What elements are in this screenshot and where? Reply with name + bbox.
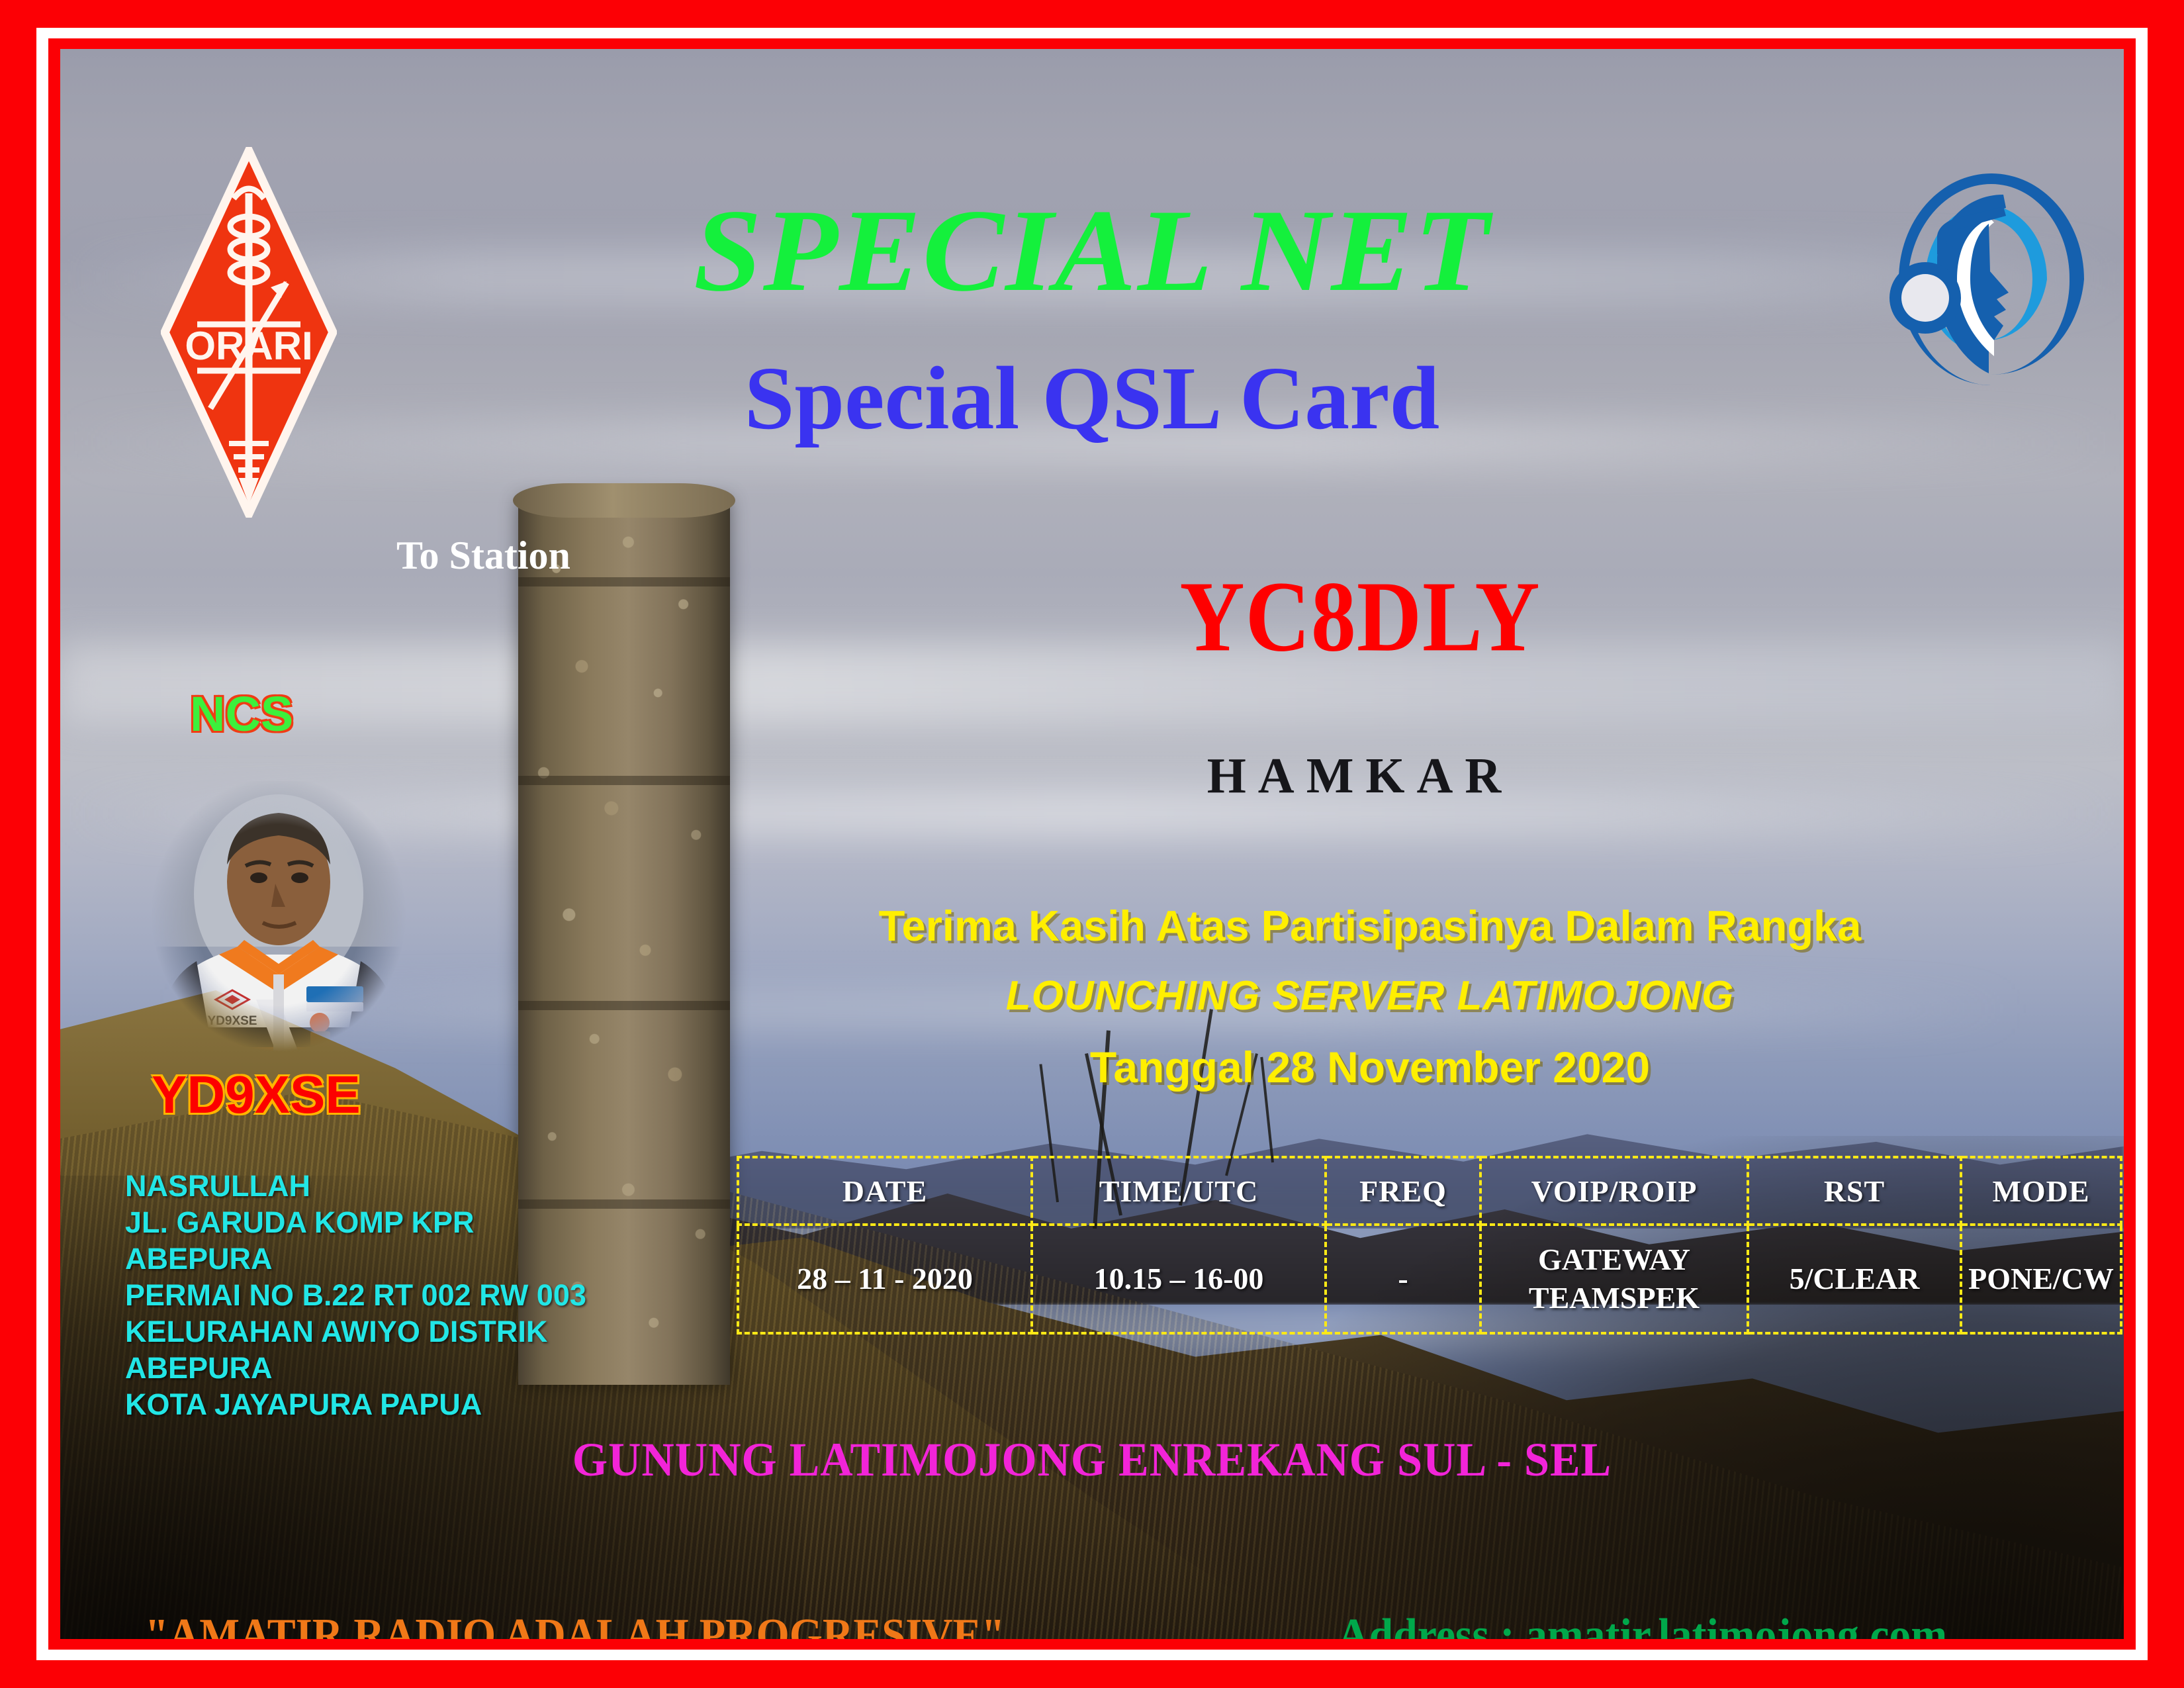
event-date-line: Tanggal 28 November 2020: [775, 1045, 1965, 1089]
thanks-line: Terima Kasih Atas Partisipasinya Dalam R…: [775, 904, 1965, 947]
to-station-label: To Station: [396, 536, 570, 575]
card-photo-background: ORARI SPECIAL NET Special QSL Card To St…: [60, 49, 2124, 1639]
column-header-date: DATE: [738, 1157, 1032, 1225]
event-subject-line: LOUNCHING SERVER LATIMOJONG: [775, 976, 1965, 1017]
cell-voip-roip: GATEWAY TEAMSPEK: [1480, 1225, 1748, 1333]
svg-text:YD9XSE: YD9XSE: [208, 1014, 257, 1028]
operator-portrait-svg: YD9XSE: [140, 781, 418, 1059]
footer-address: Address : amatir.latimojong.com: [1338, 1613, 1947, 1639]
table-row: 28 – 11 - 2020 10.15 – 16-00 - GATEWAY T…: [738, 1225, 2121, 1333]
address-line: ABEPURA: [125, 1350, 586, 1386]
column-header-time: TIME/UTC: [1032, 1157, 1326, 1225]
cell-rst: 5/CLEAR: [1748, 1225, 1961, 1333]
qso-log-table: DATE TIME/UTC FREQ VOIP/ROIP RST MODE 28…: [737, 1156, 2122, 1335]
station-callsign: YC8DLY: [815, 567, 1905, 667]
column-header-freq: FREQ: [1326, 1157, 1480, 1225]
pillar-band: [518, 577, 730, 586]
cell-time: 10.15 – 16-00: [1032, 1225, 1326, 1333]
cell-freq: -: [1326, 1225, 1480, 1333]
address-line: PERMAI NO B.22 RT 002 RW 003: [125, 1277, 586, 1313]
operator-portrait: YD9XSE: [140, 781, 418, 1059]
table-header-row: DATE TIME/UTC FREQ VOIP/ROIP RST MODE: [738, 1157, 2121, 1225]
address-line: NASRULLAH: [125, 1168, 586, 1204]
event-location: GUNUNG LATIMOJONG ENREKANG SUL - SEL: [112, 1436, 2072, 1483]
qsl-card: ORARI SPECIAL NET Special QSL Card To St…: [0, 0, 2184, 1688]
column-header-rst: RST: [1748, 1157, 1961, 1225]
footer-slogan: "AMATIR RADIO ADALAH PROGRESIVE": [145, 1613, 1005, 1639]
organization-name: HAMKAR: [815, 751, 1905, 801]
operator-role-badge: NCS: [190, 690, 293, 739]
address-line: ABEPURA: [125, 1241, 586, 1277]
cell-voip-roip-line1: GATEWAY: [1482, 1241, 1747, 1279]
pillar-band: [518, 1001, 730, 1010]
address-line: KELURAHAN AWIYO DISTRIK: [125, 1313, 586, 1350]
operator-address: NASRULLAH JL. GARUDA KOMP KPR ABEPURA PE…: [125, 1168, 586, 1423]
pillar-band: [518, 776, 730, 785]
page-title: SPECIAL NET: [60, 191, 2124, 309]
subtitle: Special QSL Card: [60, 353, 2124, 444]
cell-date: 28 – 11 - 2020: [738, 1225, 1032, 1333]
column-header-voip-roip: VOIP/ROIP: [1480, 1157, 1748, 1225]
operator-callsign: YD9XSE: [152, 1068, 361, 1121]
address-line: KOTA JAYAPURA PAPUA: [125, 1386, 586, 1423]
card-inner-red-border: ORARI SPECIAL NET Special QSL Card To St…: [48, 38, 2136, 1650]
card-white-gap: ORARI SPECIAL NET Special QSL Card To St…: [36, 28, 2148, 1660]
cell-voip-roip-line2: TEAMSPEK: [1482, 1279, 1747, 1317]
column-header-mode: MODE: [1961, 1157, 2121, 1225]
cell-mode: PONE/CW: [1961, 1225, 2121, 1333]
address-line: JL. GARUDA KOMP KPR: [125, 1204, 586, 1241]
